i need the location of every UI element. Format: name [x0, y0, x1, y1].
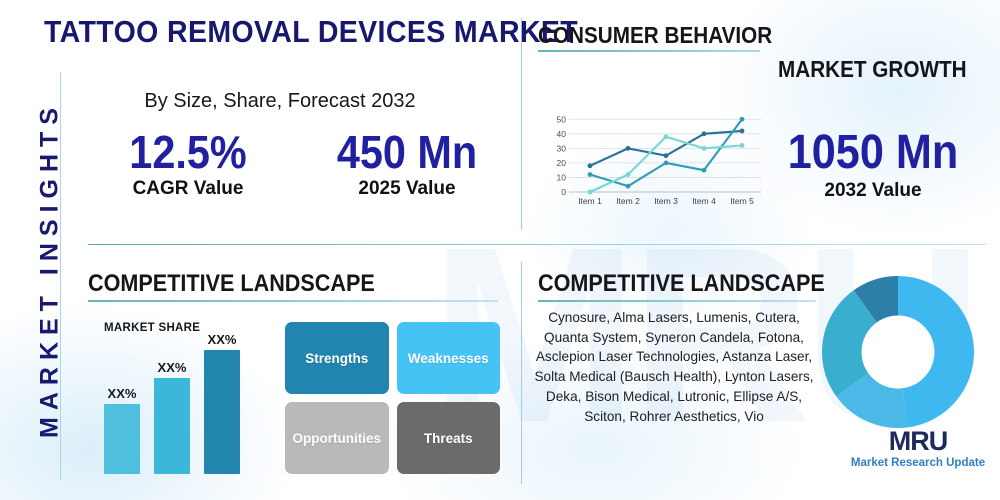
chart-data-point [702, 146, 707, 151]
divider-vertical-middle-top [521, 18, 522, 230]
chart-data-point [702, 168, 707, 173]
stat-cagr: 12.5% CAGR Value [88, 128, 288, 200]
section-title-market-growth: MARKET GROWTH [778, 56, 967, 83]
chart-ytick-label: 10 [557, 172, 567, 182]
chart-data-point [588, 190, 593, 195]
swot-box-weaknesses[interactable]: Weaknesses [397, 322, 501, 394]
stat-2032-caption: 2032 Value [752, 180, 994, 202]
divider-horizontal [88, 244, 986, 245]
swot-grid: StrengthsWeaknessesOpportunitiesThreats [285, 322, 500, 474]
market-share-bar-label: XX% [154, 360, 190, 375]
page-subtitle: By Size, Share, Forecast 2032 [60, 90, 500, 113]
chart-xtick-label: Item 3 [654, 196, 678, 206]
chart-data-point [740, 143, 745, 148]
sidebar-label: MARKET INSIGHTS [36, 60, 65, 480]
section-underline-left [88, 300, 498, 302]
market-share-donut-chart [822, 276, 974, 428]
stat-2025: 450 Mn 2025 Value [300, 128, 514, 200]
chart-data-point [740, 129, 745, 134]
section-title-consumer-behavior: CONSUMER BEHAVIOR [538, 22, 772, 49]
section-underline-consumer-behavior [538, 50, 760, 52]
mru-logo: MRU Market Research Update [848, 428, 988, 469]
chart-data-point [664, 134, 669, 139]
chart-data-point [664, 161, 669, 166]
chart-ytick-label: 40 [557, 129, 567, 139]
stat-2025-caption: 2025 Value [300, 178, 514, 200]
chart-xtick-label: Item 5 [730, 196, 754, 206]
chart-data-point [626, 184, 631, 189]
chart-data-point [626, 172, 631, 177]
market-share-title: MARKET SHARE [104, 322, 200, 334]
consumer-behavior-line-chart: 01020304050Item 1Item 2Item 3Item 4Item … [545, 104, 765, 216]
chart-data-point [664, 153, 669, 158]
stat-2025-value: 450 Mn [311, 128, 504, 176]
chart-xtick-label: Item 2 [616, 196, 640, 206]
infographic-canvas: MRU MARKET INSIGHTS TATTOO REMOVAL DEVIC… [0, 0, 1000, 500]
market-share-bars: XX%XX%XX% [96, 346, 266, 474]
page-title: TATTOO REMOVAL DEVICES MARKET [44, 14, 467, 50]
chart-data-point [588, 163, 593, 168]
chart-ytick-label: 0 [561, 187, 566, 197]
market-share-bar [154, 378, 190, 474]
chart-xtick-label: Item 4 [692, 196, 716, 206]
stat-2032: 1050 Mn 2032 Value [752, 128, 994, 202]
swot-box-strengths[interactable]: Strengths [285, 322, 389, 394]
logo-subtitle: Market Research Update [848, 457, 988, 469]
market-share-chart: MARKET SHARE XX%XX%XX% [96, 322, 266, 474]
chart-data-point [626, 146, 631, 151]
market-share-bar-column: XX% [204, 332, 240, 474]
company-list: Cynosure, Alma Lasers, Lumenis, Cutera, … [528, 308, 820, 426]
chart-line-series-2 [590, 119, 742, 186]
chart-ytick-label: 30 [557, 143, 567, 153]
section-title-competitive-landscape-right: COMPETITIVE LANDSCAPE [538, 270, 825, 298]
market-share-bar [204, 350, 240, 474]
section-title-competitive-landscape-left: COMPETITIVE LANDSCAPE [88, 270, 375, 298]
market-share-bar-label: XX% [204, 332, 240, 347]
chart-data-point [702, 131, 707, 136]
stat-cagr-value: 12.5% [98, 128, 278, 176]
chart-xtick-label: Item 1 [578, 196, 602, 206]
swot-box-threats[interactable]: Threats [397, 402, 501, 474]
chart-ytick-label: 20 [557, 158, 567, 168]
stat-cagr-caption: CAGR Value [88, 178, 288, 200]
section-underline-right [538, 300, 816, 302]
chart-ytick-label: 50 [557, 114, 567, 124]
market-share-bar [104, 404, 140, 474]
logo-mark-text: MRU [889, 428, 948, 455]
stat-2032-value: 1050 Mn [764, 128, 982, 178]
divider-vertical-middle-bottom [521, 262, 522, 484]
swot-box-opportunities[interactable]: Opportunities [285, 402, 389, 474]
chart-data-point [740, 117, 745, 122]
chart-data-point [588, 172, 593, 177]
market-share-bar-column: XX% [104, 386, 140, 474]
market-share-bar-label: XX% [104, 386, 140, 401]
market-share-bar-column: XX% [154, 360, 190, 474]
